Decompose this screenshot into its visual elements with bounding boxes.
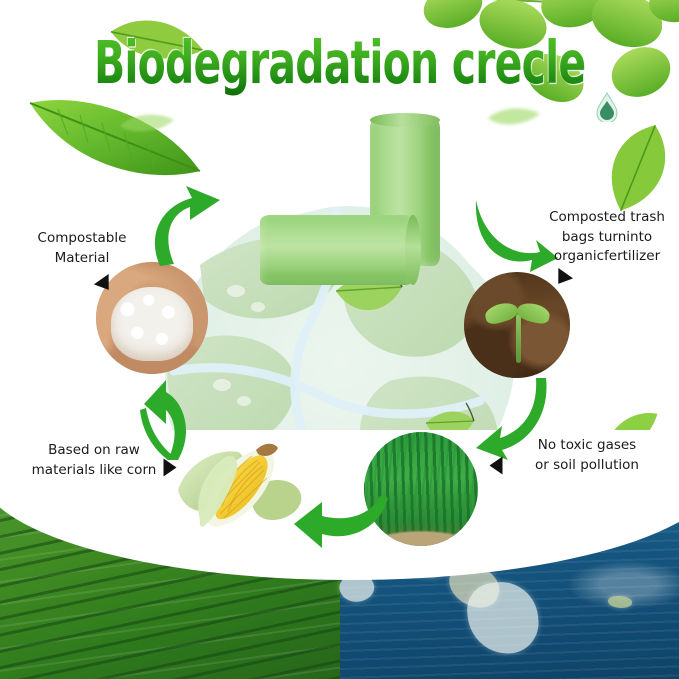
label-raw-materials-corn: Based on raw materials like corn <box>14 441 174 480</box>
title-container: Biodegradation crecle <box>0 28 679 98</box>
trash-bag-roll-horizontal <box>260 215 415 285</box>
caret-raw-materials-corn <box>164 459 177 477</box>
arrow-bottom-left <box>292 494 392 556</box>
green-leaf-decoration <box>395 0 679 136</box>
seedling-sprout-in-soil <box>464 272 570 378</box>
label-compostable-material: Compostable Material <box>6 229 158 268</box>
biodegradation-cycle-infographic: Biodegradation crecle <box>0 0 679 679</box>
water-drop-icon <box>596 92 618 122</box>
label-composted-fertilizer: Composted trash bags turninto organicfer… <box>532 208 679 267</box>
green-leaf-decoration <box>22 85 212 195</box>
plastic-litter <box>608 596 632 608</box>
plastic-litter <box>464 579 541 658</box>
label-no-toxic-gases: No toxic gases or soil pollution <box>509 436 665 475</box>
green-leaf-decoration <box>104 0 210 86</box>
caret-no-toxic-gases <box>490 457 503 475</box>
page-title: Biodegradation crecle <box>94 29 585 97</box>
green-leaf-decoration <box>486 104 542 128</box>
hands-holding-white-resin-pellets <box>96 262 208 374</box>
green-leaf-decoration <box>118 110 176 136</box>
green-compostable-trash-bag-rolls <box>252 118 472 298</box>
